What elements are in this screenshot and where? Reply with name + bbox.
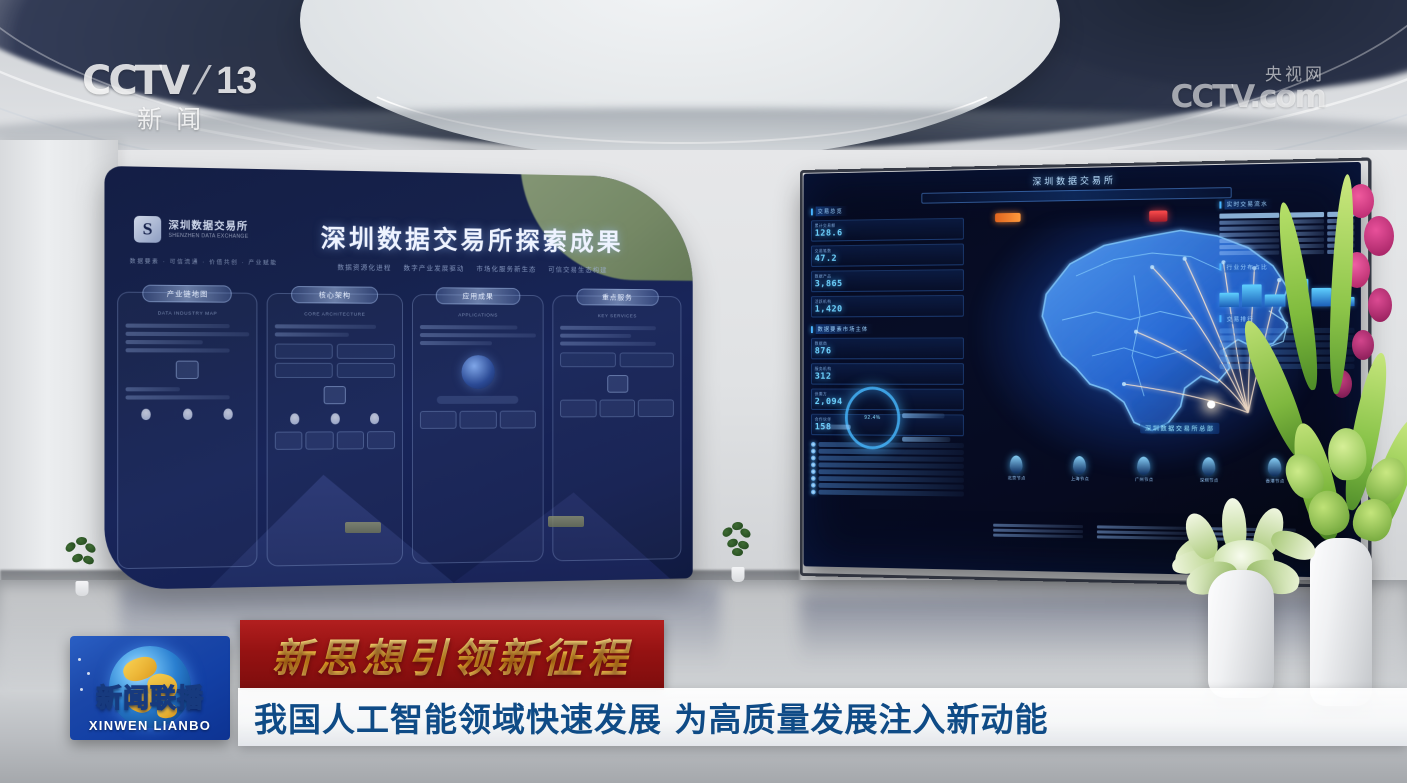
exhibition-org-tagline: 数据要素 · 可信流通 · 价值共创 · 产业赋能 [130, 257, 278, 267]
section-header: 数据要素市场主体 [811, 324, 964, 334]
feed-dot [811, 449, 816, 454]
subtitle-tag: 市场化服务新生态 [476, 263, 536, 274]
screen-section: 交易总览 累计交易额 128.6 交易笔数 47.2 数据产品 3,865 [811, 204, 964, 318]
panel-box [419, 411, 456, 429]
section-accent-bar [1219, 263, 1221, 270]
section-title: 交易总览 [816, 206, 848, 216]
map-node: 香港节点 [1266, 458, 1285, 485]
panel-row [126, 324, 230, 329]
subtitle-text: 我国人工智能领域快速发展 为高质量发展注入新动能 [254, 693, 1049, 741]
exhibition-panel: 产业链地图 DATA INDUSTRY MAP [117, 292, 257, 570]
panel-box [599, 400, 635, 418]
wall-plaque-right [548, 516, 584, 527]
small-plant-center [718, 520, 758, 582]
panel-row [560, 326, 656, 330]
panel-icon-dot [370, 413, 379, 424]
channel-slash-icon: / [190, 59, 214, 104]
feed-bar [818, 483, 963, 490]
row [993, 524, 1082, 528]
section-accent-bar [811, 326, 813, 333]
screen-section-list [811, 442, 964, 497]
kpi-card: 交易笔数 47.2 [811, 243, 964, 266]
panel-chip: 重点服务 [576, 288, 658, 305]
panel-icon-dot [183, 409, 192, 420]
panel-icon-dot [142, 409, 151, 420]
panel-grid [560, 352, 674, 367]
td [1219, 250, 1279, 255]
headline-banner: 新思想引领新征程 [240, 620, 664, 690]
org-logo-mark: S [134, 216, 161, 243]
panel-caption: APPLICATIONS [419, 312, 536, 318]
panel-box [275, 432, 303, 450]
td [1219, 225, 1279, 230]
flower-blossom [1364, 216, 1394, 256]
feed-dot [811, 483, 816, 488]
panel-icon-dot [330, 413, 339, 424]
panel-row [419, 325, 517, 329]
kpi-value: 312 [815, 372, 960, 382]
exhibition-panel: 应用成果 APPLICATIONS [411, 294, 543, 564]
feed-bar [818, 442, 963, 448]
kpi-card: 数据商 876 [811, 337, 964, 359]
site-watermark: 央视网 CCTV.com [1171, 60, 1325, 115]
td [1219, 244, 1279, 249]
broadcast-frame: S 深圳数据交易所 SHENZHEN DATA EXCHANGE 数据要素 · … [0, 0, 1407, 783]
panel-caption: KEY SERVICES [560, 313, 674, 319]
panel-row [560, 342, 656, 346]
panel-cell [337, 363, 395, 378]
feed-dot [811, 490, 816, 495]
panel-grid [275, 344, 395, 378]
screen-title-bar [921, 187, 1231, 204]
ring-gauge-label: 92.4% [864, 415, 880, 421]
panel-node [176, 361, 199, 379]
panel-row [419, 333, 536, 337]
exhibition-panel: 核心架构 CORE ARCHITECTURE [266, 293, 402, 567]
panel-globe-graphic [461, 355, 494, 389]
leaf [732, 548, 744, 557]
panel-box [560, 400, 596, 418]
td [1219, 219, 1279, 224]
panel-row [126, 340, 203, 344]
td [1219, 232, 1279, 237]
panel-icon-dot [224, 409, 233, 420]
channel-name-cn: 新闻 [82, 100, 256, 136]
panel-boxes [419, 411, 536, 429]
watermark-en: CCTV.com [1171, 79, 1325, 115]
channel-number: 13 [216, 60, 256, 103]
gauge-tag-right-2 [902, 437, 950, 442]
pot [76, 581, 89, 596]
map-node-label: 上海节点 [1071, 476, 1089, 482]
panel-rows [275, 324, 395, 337]
program-name-en: XINWEN LIANBO [70, 718, 230, 733]
map-node: 上海节点 [1071, 456, 1089, 482]
panel-cell [560, 352, 615, 367]
panel-rows [560, 326, 674, 346]
small-plant-left [62, 536, 102, 596]
feed-dot [811, 476, 816, 481]
feed-row [811, 490, 964, 497]
section-accent-bar [1219, 315, 1221, 322]
panel-cell [619, 353, 674, 368]
panel-boxes [560, 399, 674, 417]
panel-caption: DATA INDUSTRY MAP [126, 310, 249, 316]
section-accent-bar [811, 208, 813, 215]
program-name-cn: 新闻联播 [70, 678, 230, 715]
section-title: 行业分布占比 [1225, 261, 1274, 272]
feed-dot [811, 442, 816, 447]
feed-dot [811, 462, 816, 467]
map-node-label: 北京节点 [1008, 475, 1026, 481]
map-node-label: 广州节点 [1135, 477, 1154, 483]
location-pin-icon [1268, 458, 1281, 477]
panel-cell [275, 344, 333, 359]
map-node-label: 深圳节点 [1200, 477, 1219, 483]
feed-bar [818, 462, 963, 468]
section-title: 实时交易流水 [1225, 198, 1274, 209]
location-pin-icon [1138, 457, 1151, 475]
leaf [82, 554, 95, 565]
section-accent-bar [1219, 201, 1221, 208]
vase-center [1208, 570, 1274, 698]
kpi-value: 3,865 [815, 278, 960, 289]
org-logo-sub: SHENZHEN DATA EXCHANGE [168, 233, 248, 240]
panel-box [638, 399, 674, 417]
map-node-label: 香港节点 [1266, 478, 1285, 484]
map-footer-table [993, 524, 1082, 538]
exhibition-org-logo: S 深圳数据交易所 SHENZHEN DATA EXCHANGE [134, 216, 248, 244]
panel-row [126, 395, 230, 399]
leaf [739, 527, 753, 540]
bar [1219, 292, 1239, 306]
exhibition-title: 深圳数据交易所探索成果 [279, 218, 663, 259]
location-pin-icon [1010, 455, 1023, 473]
panel-row [126, 348, 230, 352]
row [993, 529, 1082, 534]
exhibition-wall: S 深圳数据交易所 SHENZHEN DATA EXCHANGE 数据要素 · … [104, 166, 692, 590]
panel-row [419, 341, 492, 345]
kpi-card: 累计交易额 128.6 [811, 218, 964, 242]
location-pin-icon [1073, 456, 1086, 474]
map-node: 北京节点 [1008, 455, 1026, 481]
panel-icons [275, 413, 395, 425]
kpi-card: 数据产品 3,865 [811, 269, 964, 292]
org-logo-name: 深圳数据交易所 [168, 220, 248, 234]
feed-dot [811, 456, 816, 461]
panel-chip: 产业链地图 [143, 285, 232, 303]
panel-chip: 核心架构 [291, 286, 378, 304]
kpi-card: 服务机构 312 [811, 363, 964, 385]
feed-bar [818, 490, 963, 497]
panel-row [126, 387, 181, 391]
gauge-tag-right-1 [902, 413, 944, 418]
panel-box [336, 431, 364, 449]
ring-gauge: 92.4% [845, 387, 900, 450]
sparkle [87, 672, 90, 675]
exhibition-panels: 产业链地图 DATA INDUSTRY MAP [117, 292, 681, 570]
panel-row [275, 332, 350, 336]
leaf [1268, 525, 1320, 564]
headline-text: 新思想引领新征程 [272, 626, 632, 684]
feed-bar [818, 449, 963, 455]
panel-icons [126, 408, 249, 420]
panel-node [607, 375, 628, 393]
panel-cell [275, 363, 333, 378]
subtitle-tag: 数字产业发展驱动 [404, 262, 465, 273]
panel-chip: 应用成果 [436, 287, 520, 305]
map-hub-marker [1207, 400, 1215, 408]
feed-dot [811, 469, 816, 474]
kpi-grid: 累计交易额 128.6 交易笔数 47.2 数据产品 3,865 活跃机构 1,… [811, 218, 964, 318]
kpi-value: 128.6 [815, 227, 960, 239]
org-logo-text: 深圳数据交易所 SHENZHEN DATA EXCHANGE [168, 220, 248, 240]
panel-rows [126, 387, 249, 399]
feed-bar [818, 476, 963, 483]
feed-row [811, 469, 964, 476]
th [1219, 213, 1279, 219]
panel-node [324, 386, 346, 404]
td [1219, 238, 1279, 243]
feed-row [811, 483, 964, 490]
data-feed-list [811, 442, 964, 497]
panel-icon-dot [290, 413, 299, 424]
panel-rows [419, 325, 536, 345]
leaf [1326, 427, 1368, 482]
row [993, 534, 1082, 539]
feed-bar [818, 469, 963, 476]
exhibition-title-block: 深圳数据交易所探索成果 数据资源化进程 数字产业发展驱动 市场化服务新生态 可信… [279, 218, 663, 275]
screen-left-column: 交易总览 累计交易额 128.6 交易笔数 47.2 数据产品 3,865 [811, 204, 964, 503]
section-title: 交易排行 [1225, 313, 1260, 323]
flower-blossom [1368, 288, 1392, 322]
panel-caption: CORE ARCHITECTURE [275, 311, 395, 317]
kpi-card: 活跃机构 1,420 [811, 295, 964, 318]
panel-box [367, 431, 394, 449]
panel-cell [337, 344, 395, 359]
section-header: 交易总览 [811, 204, 964, 216]
section-title: 数据要素市场主体 [816, 324, 873, 334]
channel-brand: CCTV [82, 58, 187, 104]
panel-row [560, 334, 631, 338]
map-node: 广州节点 [1135, 457, 1154, 483]
panel-row [126, 332, 249, 337]
map-region-label: 深圳数据交易所总部 [1140, 422, 1220, 434]
feed-bar [818, 456, 963, 462]
feed-row [811, 449, 964, 455]
bar [1265, 294, 1285, 306]
subtitle-tag: 数据资源化进程 [337, 261, 391, 272]
kpi-value: 1,420 [815, 304, 960, 315]
location-pin-icon [1202, 457, 1215, 475]
panel-box [460, 411, 497, 429]
feed-row [811, 476, 964, 483]
screen-title: 深圳数据交易所 [1032, 173, 1116, 188]
feed-row [811, 462, 964, 468]
flower-blossom [1352, 330, 1374, 360]
panel-box [306, 431, 334, 449]
exhibition-subtitle-tags: 数据资源化进程 数字产业发展驱动 市场化服务新生态 可信交易生态构建 [279, 261, 663, 275]
panel-rows [126, 324, 249, 353]
sparkle [78, 658, 81, 661]
kpi-value: 47.2 [815, 252, 960, 264]
program-logo: 新闻联播 XINWEN LIANBO [70, 636, 230, 740]
panel-boxes [275, 431, 395, 450]
panel-pill [437, 396, 519, 404]
panel-row [275, 324, 376, 329]
map-node: 深圳节点 [1200, 457, 1219, 484]
wall-plaque-left [345, 522, 381, 533]
subtitle-tag: 可信交易生态构建 [548, 264, 607, 274]
gauge-tag-left [818, 424, 850, 429]
pot [732, 567, 745, 582]
subtitle-bar: 我国人工智能领域快速发展 为高质量发展注入新动能 [238, 688, 1407, 746]
map-node-markers: 北京节点 上海节点 广州节点 深圳节点 香港节点 [985, 455, 1308, 485]
kpi-value: 876 [815, 346, 960, 356]
leaf [84, 542, 98, 555]
panel-box [499, 411, 536, 429]
channel-logo-row: CCTV / 13 [82, 58, 256, 104]
feed-row [811, 456, 964, 462]
bar [1242, 284, 1262, 306]
channel-logo: CCTV / 13 新闻 [82, 58, 256, 136]
